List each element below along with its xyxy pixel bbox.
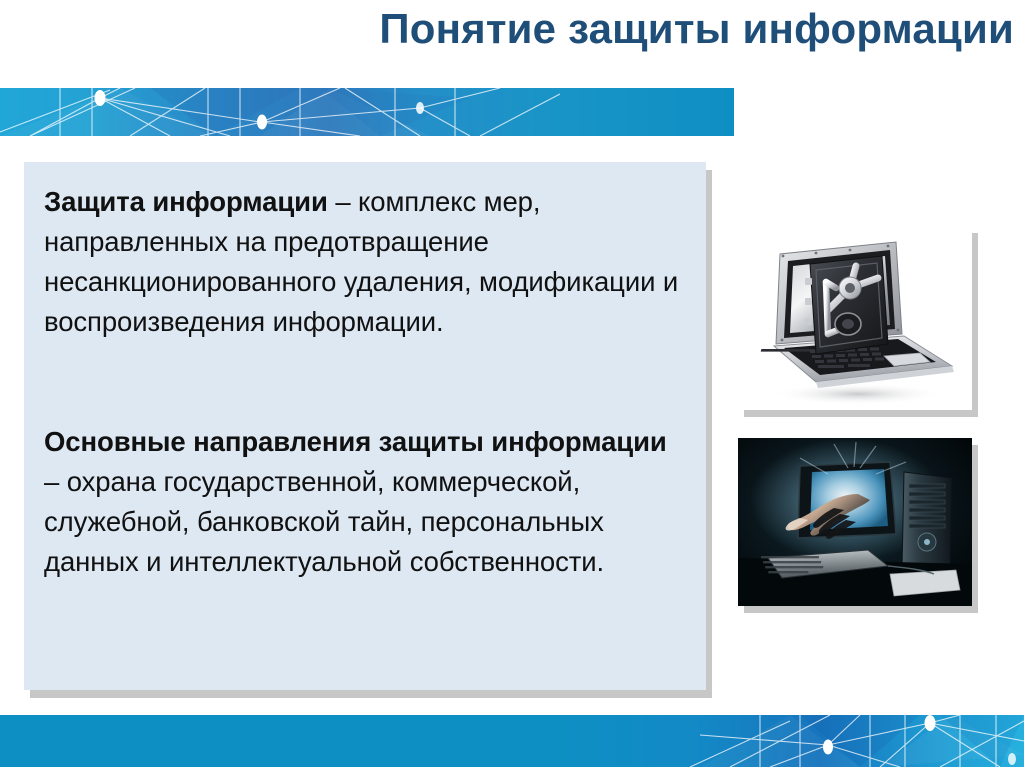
bottom-banner <box>0 715 1024 767</box>
laptop-safe-illustration-icon <box>738 226 972 410</box>
paragraph-definition-lead: Защита информации <box>44 186 328 217</box>
paragraph-directions: Основные направления защиты информации –… <box>44 422 686 582</box>
network-pattern-icon <box>0 715 1024 767</box>
hacker-hand-monitor-illustration-icon <box>738 438 972 606</box>
image-laptop-with-safe-door <box>738 226 972 410</box>
image-hand-reaching-from-monitor <box>738 438 972 606</box>
presentation-slide: Понятие защиты информации <box>0 0 1024 767</box>
paragraph-definition: Защита информации – комплекс мер, направ… <box>44 182 686 342</box>
network-pattern-icon <box>0 88 734 136</box>
top-banner <box>0 88 734 136</box>
page-title: Понятие защиты информации <box>0 4 1014 54</box>
image-frame <box>738 438 972 606</box>
paragraph-directions-lead: Основные направления защиты информации <box>44 426 667 457</box>
image-frame <box>738 226 972 410</box>
content-box: Защита информации – комплекс мер, направ… <box>24 162 706 690</box>
paragraph-directions-rest: – охрана государственной, коммерческой, … <box>44 466 604 577</box>
